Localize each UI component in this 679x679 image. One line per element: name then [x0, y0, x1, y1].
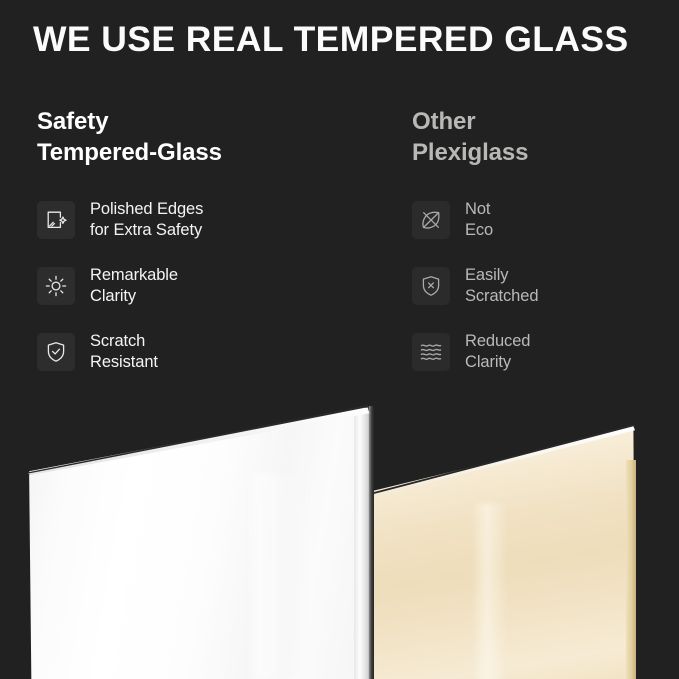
comparison-infographic: WE USE REAL TEMPERED GLASS Safety Temper… [0, 0, 679, 679]
feature-label: Easily Scratched [465, 265, 538, 308]
column-other-plexiglass: Other Plexiglass Not Eco Easily Scratche… [412, 106, 677, 396]
feature-label: Remarkable Clarity [90, 265, 178, 308]
shield-check-icon [37, 333, 75, 371]
feature-scratch-resistant: Scratch Resistant [37, 330, 387, 374]
wavy-distortion-icon [412, 333, 450, 371]
leaf-slash-icon [412, 201, 450, 239]
polished-edges-icon [37, 201, 75, 239]
brightness-sun-icon [37, 267, 75, 305]
column-safety-tempered-glass: Safety Tempered-Glass Polished Edges for… [37, 106, 387, 396]
feature-not-eco: Not Eco [412, 198, 677, 242]
feature-reduced-clarity: Reduced Clarity [412, 330, 677, 374]
tempered-glass-reflection [246, 473, 314, 679]
tempered-glass-panel [26, 406, 371, 679]
column-title: Safety Tempered-Glass [37, 106, 387, 168]
feature-remarkable-clarity: Remarkable Clarity [37, 264, 387, 308]
feature-polished-edges: Polished Edges for Extra Safety [37, 198, 387, 242]
product-photo [0, 398, 679, 679]
feature-label: Not Eco [465, 199, 493, 242]
plexiglass-right-edge [626, 460, 636, 679]
panel-separation-gap [369, 406, 374, 679]
feature-label: Scratch Resistant [90, 331, 158, 374]
shield-x-icon [412, 267, 450, 305]
column-title: Other Plexiglass [412, 106, 677, 168]
feature-label: Reduced Clarity [465, 331, 530, 374]
feature-label: Polished Edges for Extra Safety [90, 199, 203, 242]
plexiglass-reflection [472, 503, 508, 679]
feature-easily-scratched: Easily Scratched [412, 264, 677, 308]
page-title: WE USE REAL TEMPERED GLASS [33, 20, 663, 59]
